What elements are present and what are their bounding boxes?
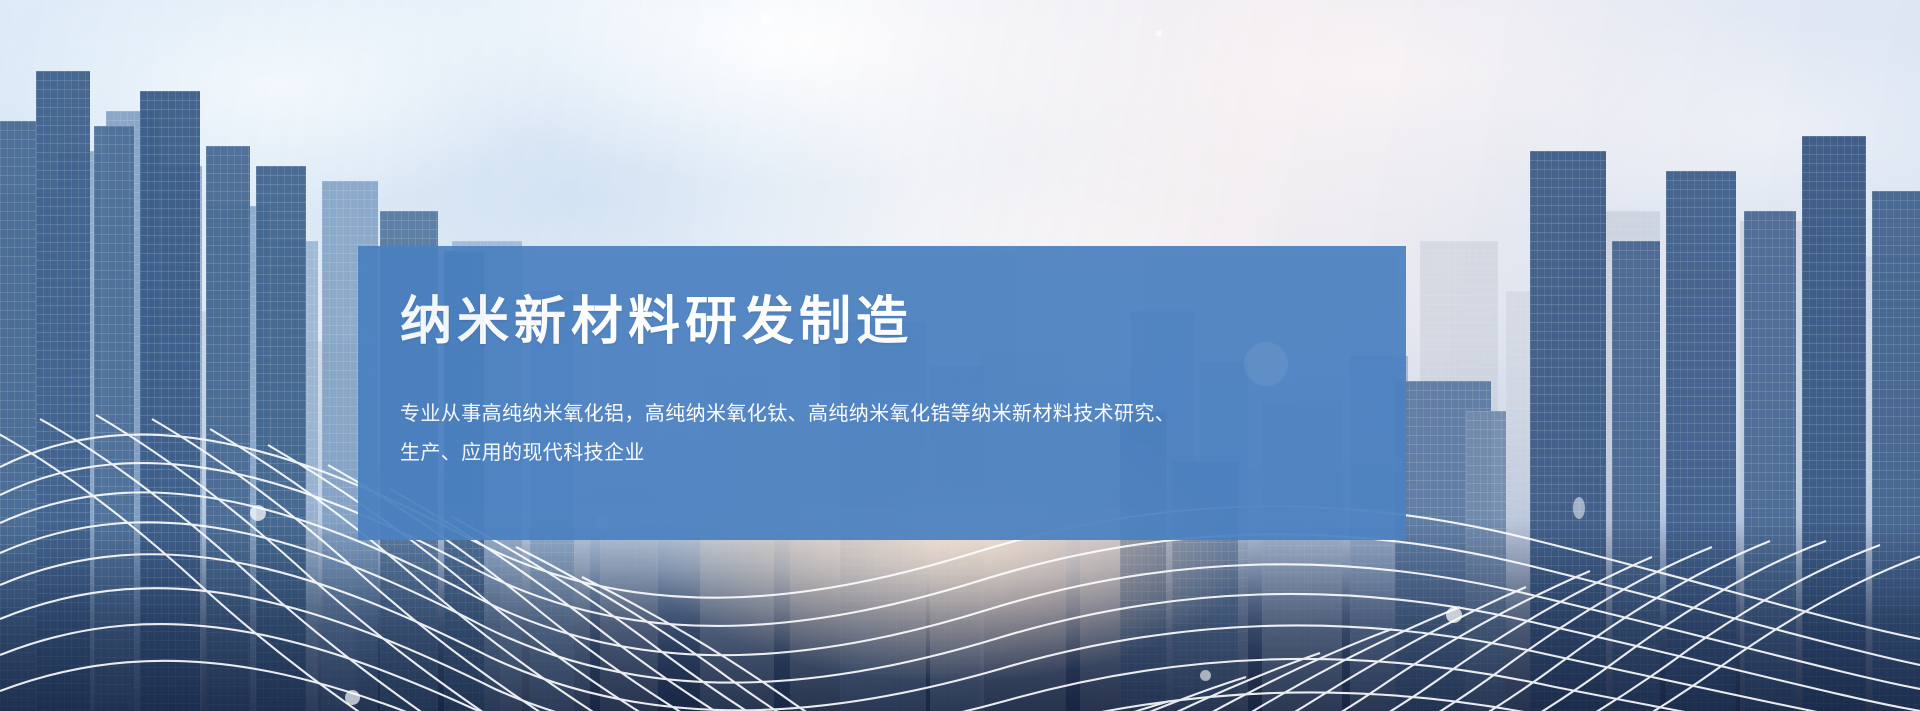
bokeh-dot [250, 505, 266, 521]
hero-text-panel: 纳米新材料研发制造 专业从事高纯纳米氧化铝，高纯纳米氧化钛、高纯纳米氧化锆等纳米… [358, 246, 1406, 540]
hero-banner: 纳米新材料研发制造 专业从事高纯纳米氧化铝，高纯纳米氧化钛、高纯纳米氧化锆等纳米… [0, 0, 1920, 711]
hero-subtitle-line-2: 生产、应用的现代科技企业 [400, 442, 645, 464]
bokeh-dot [1446, 607, 1462, 623]
hero-subtitle-line-1: 专业从事高纯纳米氧化铝，高纯纳米氧化钛、高纯纳米氧化锆等纳米新材料技术研究、 [400, 403, 1175, 425]
bokeh-dot [1200, 670, 1211, 681]
hero-text-content: 纳米新材料研发制造 专业从事高纯纳米氧化铝，高纯纳米氧化钛、高纯纳米氧化锆等纳米… [358, 246, 1406, 540]
bokeh-dot [345, 690, 360, 705]
hero-subtitle: 专业从事高纯纳米氧化铝，高纯纳米氧化钛、高纯纳米氧化锆等纳米新材料技术研究、 生… [400, 395, 1350, 473]
page-title: 纳米新材料研发制造 [400, 294, 1350, 351]
bokeh-dot [1156, 30, 1162, 36]
bokeh-dot [762, 16, 770, 24]
bokeh-dot [1573, 497, 1585, 519]
ground-haze [0, 521, 1920, 711]
